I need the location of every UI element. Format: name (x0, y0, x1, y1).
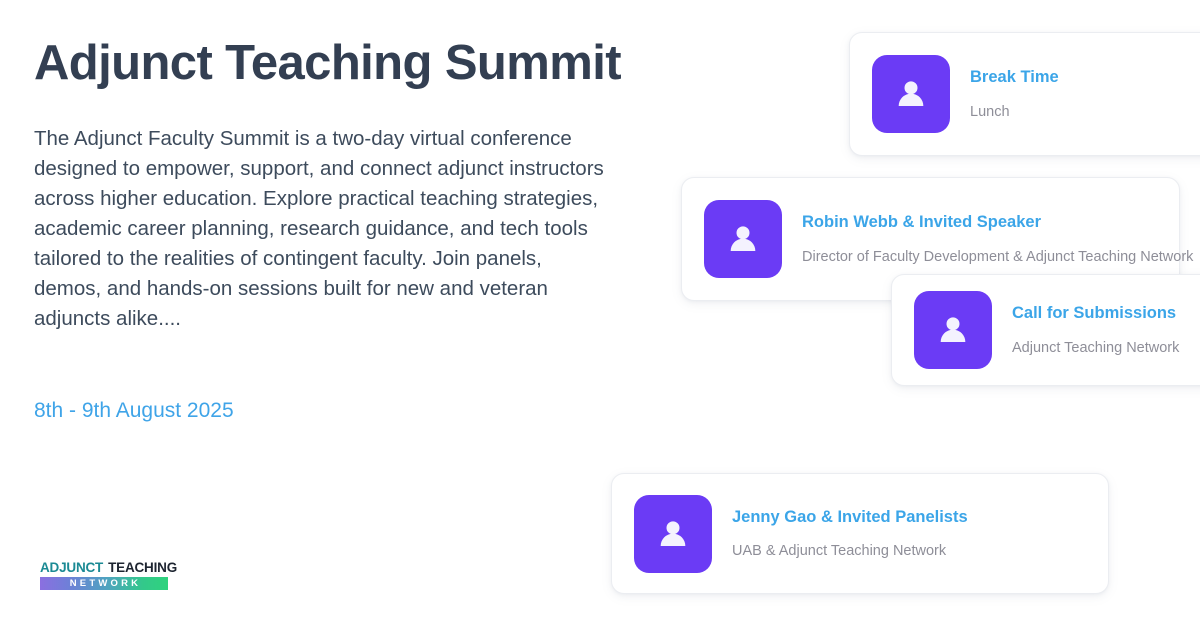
card-text-block: Jenny Gao & Invited Panelists UAB & Adju… (732, 507, 968, 561)
avatar (634, 495, 712, 573)
logo-gradient-bar: NETWORK (40, 577, 168, 590)
logo-word-network: NETWORK (67, 578, 141, 589)
person-icon (723, 219, 763, 259)
session-card-call-for-submissions[interactable]: Call for Submissions Adjunct Teaching Ne… (891, 274, 1200, 386)
event-date: 8th - 9th August 2025 (34, 399, 234, 423)
card-subtitle: UAB & Adjunct Teaching Network (732, 542, 968, 560)
person-icon (653, 514, 693, 554)
card-text-block: Break Time Lunch (970, 67, 1059, 121)
card-title[interactable]: Robin Webb & Invited Speaker (802, 212, 1179, 233)
hero-description: The Adjunct Faculty Summit is a two-day … (34, 124, 614, 334)
person-icon (891, 74, 931, 114)
card-title[interactable]: Jenny Gao & Invited Panelists (732, 507, 968, 528)
card-title[interactable]: Call for Submissions (1012, 303, 1179, 324)
logo-word-teaching: TEACHING (108, 561, 177, 575)
card-text-block: Robin Webb & Invited Speaker Director of… (802, 212, 1179, 266)
card-subtitle: Adjunct Teaching Network (1012, 339, 1179, 357)
card-subtitle: Director of Faculty Development & Adjunc… (802, 248, 1179, 266)
hero-section: Adjunct Teaching Summit The Adjunct Facu… (34, 36, 634, 334)
adjunct-teaching-network-logo[interactable]: ADJUNCT TEACHING NETWORK (40, 561, 168, 590)
page-title: Adjunct Teaching Summit (34, 36, 634, 91)
avatar (914, 291, 992, 369)
summit-landing-page: Adjunct Teaching Summit The Adjunct Facu… (0, 0, 1200, 628)
avatar (704, 200, 782, 278)
card-subtitle: Lunch (970, 103, 1059, 121)
logo-wordmark: ADJUNCT TEACHING (40, 561, 168, 575)
session-card-jenny-gao[interactable]: Jenny Gao & Invited Panelists UAB & Adju… (611, 473, 1109, 594)
session-card-break-time[interactable]: Break Time Lunch (849, 32, 1200, 156)
card-title[interactable]: Break Time (970, 67, 1059, 88)
avatar (872, 55, 950, 133)
person-icon (933, 310, 973, 350)
logo-word-adjunct: ADJUNCT (40, 561, 103, 575)
card-text-block: Call for Submissions Adjunct Teaching Ne… (1012, 303, 1179, 357)
